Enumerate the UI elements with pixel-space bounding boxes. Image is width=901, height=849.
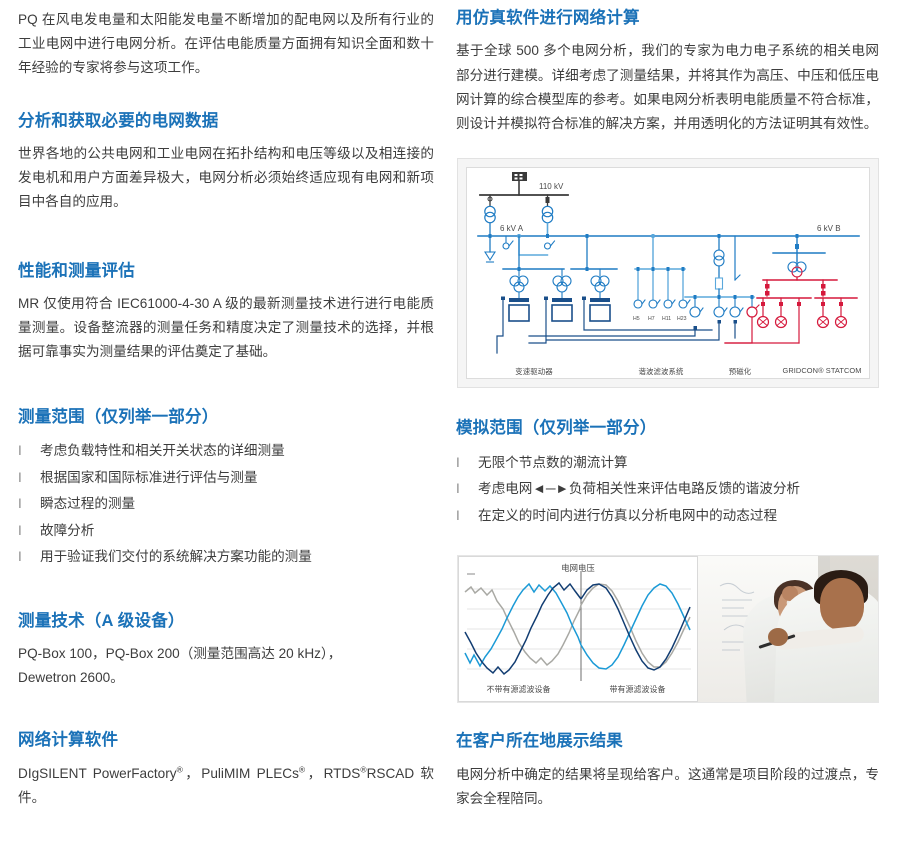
bullet-marker-icon: I: [456, 450, 478, 477]
bullet-marker-icon: I: [18, 544, 40, 571]
heading-simulation-scope: 模拟范围（仅列举一部分）: [456, 418, 879, 439]
waveform-title: 电网电压: [459, 562, 697, 574]
list-item-label: 考虑电网◄─►负荷相关性来评估电路反馈的谐波分析: [478, 476, 800, 503]
paragraph-results: 电网分析中确定的结果将呈现给客户。这通常是项目阶段的过渡点，专家会全程陪同。: [456, 763, 879, 811]
software-line: DIgSILENT PowerFactory®，PuliMIM PLECs®，R…: [18, 762, 434, 810]
waveform-chart: 电网电压: [458, 556, 698, 702]
heading-performance: 性能和测量评估: [18, 261, 434, 282]
paragraph-grid-data: 世界各地的公共电网和工业电网在拓扑结构和电压等级以及相连接的发电机和用户方面差异…: [18, 142, 434, 215]
list-item-label: 瞬态过程的测量: [40, 491, 135, 518]
bullet-marker-icon: I: [456, 476, 478, 503]
paragraph-simulation: 基于全球 500 多个电网分析，我们的专家为电力电子系统的相关电网部分进行建模。…: [456, 39, 879, 136]
harmonic-label-h7: H7: [648, 316, 655, 322]
list-item: I 考虑负载特性和相关开关状态的详细测量: [18, 438, 434, 465]
left-column: PQ 在风电发电量和太阳能发电量不断增加的配电网以及所有行业的工业电网中进行电网…: [0, 0, 450, 849]
caption-harmonic-filter: 谐波滤波系统: [610, 366, 712, 377]
heading-measurement-scope: 测量范围（仅列举一部分）: [18, 407, 434, 428]
list-item-label: 故障分析: [40, 518, 94, 545]
list-item-label: 用于验证我们交付的系统解决方案功能的测量: [40, 544, 312, 571]
heading-simulation: 用仿真软件进行网络计算: [456, 8, 879, 29]
list-item-label: 考虑负载特性和相关开关状态的详细测量: [40, 438, 285, 465]
person-man-hand: [768, 628, 788, 646]
list-item-label: 在定义的时间内进行仿真以分析电网中的动态过程: [478, 503, 777, 530]
measurement-tech-line-2: Dewetron 2600。: [18, 666, 434, 690]
simulation-scope-list: I 无限个节点数的潮流计算 I 考虑电网◄─►负荷相关性来评估电路反馈的谐波分析…: [456, 450, 879, 530]
bullet-marker-icon: I: [18, 465, 40, 492]
heading-software: 网络计算软件: [18, 730, 434, 751]
caption-variable-speed-drives: 变速驱动器: [458, 366, 610, 377]
software-part-3: ，RTDS: [305, 766, 360, 781]
bullet-marker-icon: I: [456, 503, 478, 530]
measurement-scope-list: I 考虑负载特性和相关开关状态的详细测量 I 根据国家和国际标准进行评估与测量 …: [18, 438, 434, 571]
harmonic-label-h11: H11: [662, 316, 671, 322]
waveform-caption-row: 不带有源滤波设备 带有源滤波设备: [459, 684, 697, 695]
heading-results: 在客户所在地展示结果: [456, 731, 879, 752]
document-page: PQ 在风电发电量和太阳能发电量不断增加的配电网以及所有行业的工业电网中进行电网…: [0, 0, 901, 849]
right-column: 用仿真软件进行网络计算 基于全球 500 多个电网分析，我们的专家为电力电子系统…: [450, 0, 901, 849]
list-item: I 用于验证我们交付的系统解决方案功能的测量: [18, 544, 434, 571]
diagram-caption-row: 变速驱动器 谐波滤波系统 预磁化 GRIDCON® STATCOM: [458, 366, 878, 377]
list-item-label: 根据国家和国际标准进行评估与测量: [40, 465, 258, 492]
list-item: I 瞬态过程的测量: [18, 491, 434, 518]
person-man-head: [820, 578, 864, 630]
list-item: I 故障分析: [18, 518, 434, 545]
intro-paragraph: PQ 在风电发电量和太阳能发电量不断增加的配电网以及所有行业的工业电网中进行电网…: [18, 8, 434, 81]
bullet-marker-icon: I: [18, 438, 40, 465]
waveform-svg: [459, 557, 697, 703]
software-part-2: ，PuliMIM PLECs: [183, 766, 299, 781]
caption-premagnetisation: 预磁化: [712, 366, 768, 377]
diagram-canvas: 110 kV 6 kV A 6 kV B: [466, 167, 870, 379]
label-6kv-b: 6 kV B: [817, 224, 841, 233]
consultants-photo: [698, 556, 878, 702]
caption-gridcon-statcom: GRIDCON® STATCOM: [768, 366, 876, 377]
paragraph-performance: MR 仅使用符合 IEC61000-4-30 A 级的最新测量技术进行进行电能质…: [18, 292, 434, 365]
circuit-diagram-svg: 110 kV 6 kV A 6 kV B: [467, 168, 869, 378]
bullet-marker-icon: I: [18, 518, 40, 545]
label-110kv: 110 kV: [539, 182, 564, 191]
waveform-caption-right: 带有源滤波设备: [578, 684, 697, 695]
harmonic-label-h23: H23: [677, 316, 687, 322]
single-line-diagram-figure: 110 kV 6 kV A 6 kV B: [457, 158, 879, 388]
harmonic-label-h5: H5: [633, 316, 640, 322]
list-item: I 根据国家和国际标准进行评估与测量: [18, 465, 434, 492]
software-part-1: DIgSILENT PowerFactory: [18, 766, 177, 781]
heading-grid-data: 分析和获取必要的电网数据: [18, 111, 434, 132]
waveform-caption-left: 不带有源滤波设备: [459, 684, 578, 695]
list-item: I 在定义的时间内进行仿真以分析电网中的动态过程: [456, 503, 879, 530]
waveform-photo-figure: 电网电压: [457, 555, 879, 703]
list-item: I 考虑电网◄─►负荷相关性来评估电路反馈的谐波分析: [456, 476, 879, 503]
measurement-tech-line-1: PQ-Box 100，PQ-Box 200（测量范围高达 20 kHz），: [18, 642, 434, 666]
bullet-marker-icon: I: [18, 491, 40, 518]
list-item: I 无限个节点数的潮流计算: [456, 450, 879, 477]
heading-measurement-tech: 测量技术（A 级设备）: [18, 611, 434, 632]
label-6kv-a: 6 kV A: [500, 224, 524, 233]
list-item-label: 无限个节点数的潮流计算: [478, 450, 628, 477]
